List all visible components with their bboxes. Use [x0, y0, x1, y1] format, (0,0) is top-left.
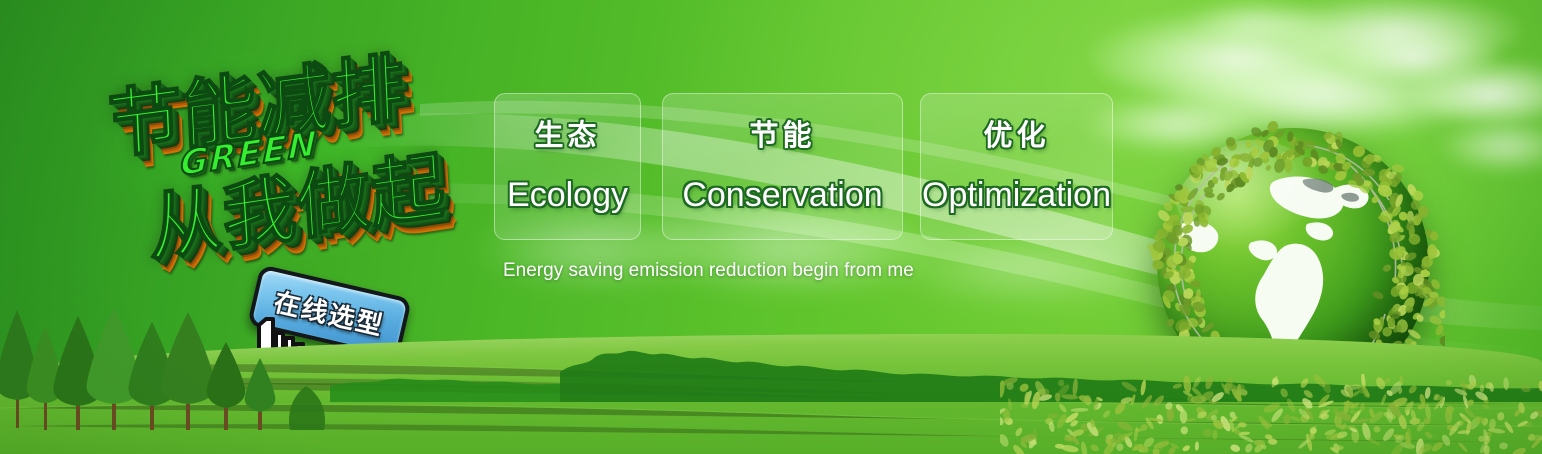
- banner-subtitle: Energy saving emission reduction begin f…: [503, 260, 914, 282]
- headline-line-2: 从我做起: [145, 125, 448, 277]
- headline-green-word: GREEN: [180, 123, 319, 184]
- feature-card-cn-label: 优化: [983, 121, 1049, 150]
- green-energy-banner: 节能减排 GREEN 从我做起 生态 Ecology 节能 Conservati…: [0, 0, 1542, 454]
- pine-trees-icon: [0, 302, 330, 432]
- feature-card-en-label: Optimization: [922, 178, 1111, 212]
- fallen-leaves-icon: [1000, 374, 1542, 454]
- feature-card-conservation[interactable]: 节能 Conservation: [662, 93, 903, 240]
- feature-card-cn-label: 生态: [534, 121, 600, 150]
- feature-card-cn-label: 节能: [749, 121, 815, 150]
- title-glow: [88, 46, 488, 266]
- headline-3d-title: 节能减排 GREEN 从我做起: [86, 20, 496, 286]
- feature-card-en-label: Ecology: [507, 178, 628, 212]
- headline-line-1: 节能减排: [106, 27, 408, 173]
- feature-card-ecology[interactable]: 生态 Ecology: [494, 93, 641, 240]
- feature-card-en-label: Conservation: [682, 178, 882, 212]
- feature-card-optimization[interactable]: 优化 Optimization: [920, 93, 1113, 240]
